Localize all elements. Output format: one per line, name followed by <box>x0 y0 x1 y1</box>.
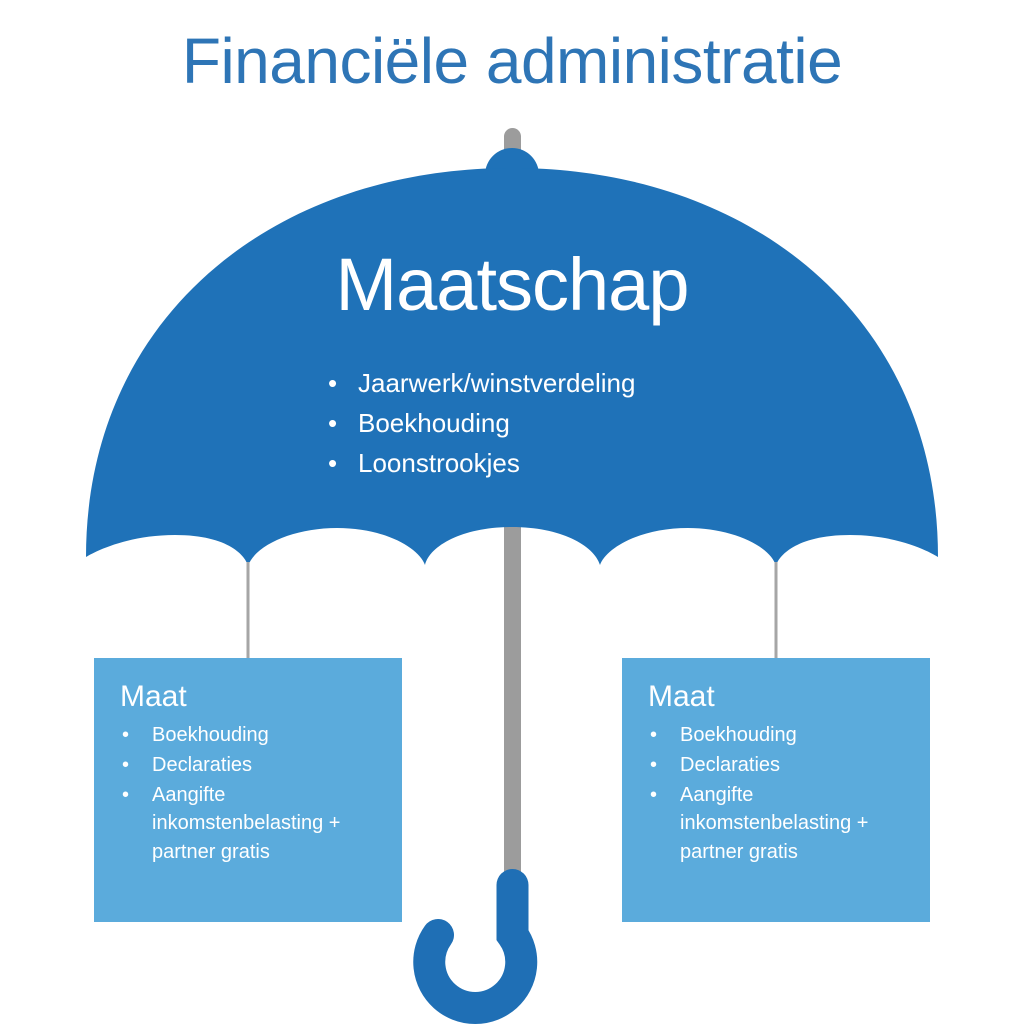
maat-list-item-label: Aangifte inkomstenbelasting + partner gr… <box>152 784 340 864</box>
bullet-icon: • <box>650 721 657 750</box>
canopy-heading: Maatschap <box>160 248 864 322</box>
maat-card-left: Maat • Boekhouding • Declaraties • Aangi… <box>94 658 402 922</box>
maat-card-title: Maat <box>648 680 916 713</box>
bullet-icon: • <box>650 751 657 780</box>
maat-bullet-list: • Boekhouding • Declaraties • Aangifte i… <box>648 721 916 867</box>
maat-list-item-label: Boekhouding <box>680 724 797 746</box>
bullet-icon: • <box>122 781 129 810</box>
connector-left <box>247 562 250 660</box>
canopy-list-item: • Boekhouding <box>324 404 864 444</box>
bullet-icon: • <box>328 404 337 444</box>
canopy-content: Maatschap • Jaarwerk/winstverdeling • Bo… <box>160 248 864 483</box>
maat-card-title: Maat <box>120 680 388 713</box>
maat-bullet-list: • Boekhouding • Declaraties • Aangifte i… <box>120 721 388 867</box>
maat-list-item: • Boekhouding <box>120 721 388 750</box>
maat-list-item-label: Aangifte inkomstenbelasting + partner gr… <box>680 784 868 864</box>
diagram-canvas: Financiële administratie Maatschap • Jaa… <box>0 0 1024 1024</box>
maat-card-right: Maat • Boekhouding • Declaraties • Aangi… <box>622 658 930 922</box>
umbrella-handle <box>429 885 521 1008</box>
maat-list-item: • Declaraties <box>648 751 916 780</box>
maat-list-item: • Boekhouding <box>648 721 916 750</box>
bullet-icon: • <box>328 444 337 484</box>
canopy-bullet-list: • Jaarwerk/winstverdeling • Boekhouding … <box>160 364 864 483</box>
bullet-icon: • <box>328 364 337 404</box>
connector-right <box>775 562 778 660</box>
bullet-icon: • <box>650 781 657 810</box>
maat-list-item-label: Boekhouding <box>152 724 269 746</box>
maat-list-item-label: Declaraties <box>152 754 252 776</box>
bullet-icon: • <box>122 751 129 780</box>
canopy-list-item-label: Jaarwerk/winstverdeling <box>358 368 635 398</box>
maat-list-item-label: Declaraties <box>680 754 780 776</box>
maat-list-item: • Aangifte inkomstenbelasting + partner … <box>120 781 388 867</box>
maat-list-item: • Declaraties <box>120 751 388 780</box>
bullet-icon: • <box>122 721 129 750</box>
canopy-list-item: • Jaarwerk/winstverdeling <box>324 364 864 404</box>
maat-list-item: • Aangifte inkomstenbelasting + partner … <box>648 781 916 867</box>
canopy-list-item-label: Loonstrookjes <box>358 448 520 478</box>
canopy-list-item: • Loonstrookjes <box>324 444 864 484</box>
canopy-list-item-label: Boekhouding <box>358 408 510 438</box>
